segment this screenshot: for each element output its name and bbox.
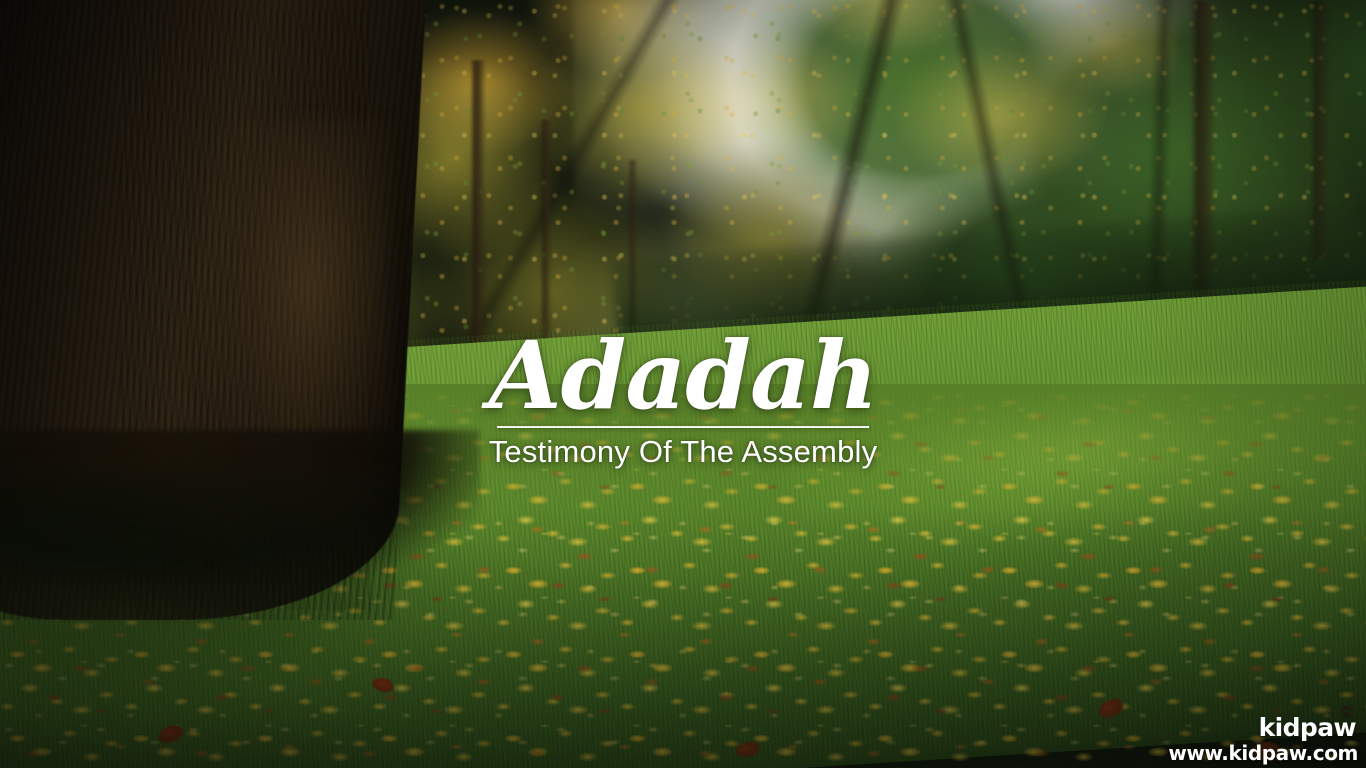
name-title-block: Adadah Testimony Of The Assembly bbox=[0, 330, 1366, 470]
name-meaning-subtitle: Testimony Of The Assembly bbox=[0, 434, 1366, 470]
watermark-brand-text: kidpaw bbox=[1259, 715, 1358, 740]
watermark-url[interactable]: www.kidpaw.com bbox=[1168, 743, 1358, 764]
site-watermark[interactable]: kidpaw www.kidpaw.com bbox=[1168, 715, 1358, 764]
banner-canvas: Adadah Testimony Of The Assembly kidpaw … bbox=[0, 0, 1366, 768]
foreground-shadow bbox=[0, 507, 1366, 768]
paw-print-icon bbox=[1339, 706, 1354, 719]
baby-name-title: Adadah bbox=[0, 330, 1366, 422]
